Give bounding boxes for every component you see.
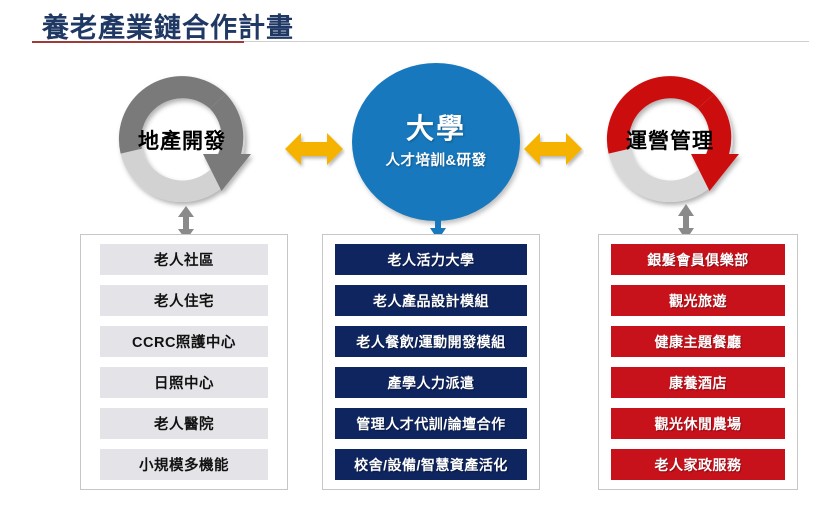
circular-arrow-gray-icon bbox=[104, 62, 260, 218]
list-item[interactable]: 老人活力大學 bbox=[335, 244, 527, 275]
list-item[interactable]: 老人家政服務 bbox=[611, 449, 785, 480]
double-arrow-horizontal-icon bbox=[283, 127, 345, 171]
list-item[interactable]: 校舍/設備/智慧資產活化 bbox=[335, 449, 527, 480]
list-item[interactable]: 日照中心 bbox=[100, 367, 268, 398]
cycle-hub-title: 大學 bbox=[406, 114, 466, 145]
cycle-left[interactable]: 地產開發 bbox=[104, 62, 260, 218]
page-title: 養老產業鏈合作計畫 bbox=[42, 6, 294, 45]
cycle-hub-subtitle: 人才培訓&研發 bbox=[386, 149, 487, 170]
list-item[interactable]: 觀光旅遊 bbox=[611, 285, 785, 316]
list-item[interactable]: 老人住宅 bbox=[100, 285, 268, 316]
cycle-hub[interactable]: 大學 人才培訓&研發 bbox=[352, 63, 520, 221]
list-item[interactable]: 老人餐飲/運動開發模組 bbox=[335, 326, 527, 357]
list-item[interactable]: 老人社區 bbox=[100, 244, 268, 275]
list-item[interactable]: 小規模多機能 bbox=[100, 449, 268, 480]
list-item[interactable]: 管理人才代訓/論壇合作 bbox=[335, 408, 527, 439]
list-item[interactable]: 老人醫院 bbox=[100, 408, 268, 439]
panel-operations: 銀髮會員俱樂部 觀光旅遊 健康主題餐廳 康養酒店 觀光休閒農場 老人家政服務 bbox=[598, 234, 798, 490]
list-item[interactable]: 銀髮會員俱樂部 bbox=[611, 244, 785, 275]
panel-university: 老人活力大學 老人產品設計模組 老人餐飲/運動開發模組 產學人力派遣 管理人才代… bbox=[322, 234, 540, 490]
cycle-right[interactable]: 運營管理 bbox=[592, 62, 748, 218]
list-item[interactable]: 康養酒店 bbox=[611, 367, 785, 398]
list-item[interactable]: CCRC照護中心 bbox=[100, 326, 268, 357]
title-underline-accent bbox=[32, 41, 244, 43]
list-item[interactable]: 老人產品設計模組 bbox=[335, 285, 527, 316]
title-underline-extension bbox=[244, 41, 809, 42]
panel-real-estate: 老人社區 老人住宅 CCRC照護中心 日照中心 老人醫院 小規模多機能 bbox=[80, 234, 288, 490]
list-item[interactable]: 觀光休閒農場 bbox=[611, 408, 785, 439]
double-arrow-horizontal-icon bbox=[522, 127, 584, 171]
circular-arrow-red-icon bbox=[592, 62, 748, 218]
list-item[interactable]: 健康主題餐廳 bbox=[611, 326, 785, 357]
list-item[interactable]: 產學人力派遣 bbox=[335, 367, 527, 398]
